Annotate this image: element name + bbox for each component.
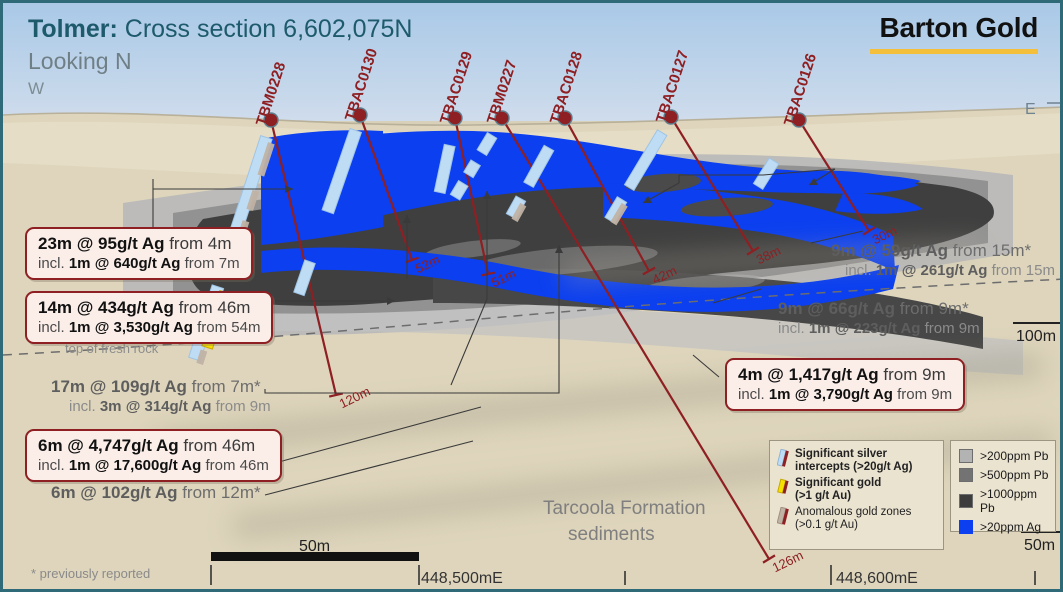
legend-item-anomalous: Anomalous gold zones(>0.1 g/t Au) bbox=[777, 506, 937, 532]
legend-item-silver: Significant silverintercepts (>20g/t Ag) bbox=[777, 448, 937, 474]
callout-c4: 6m @ 4,747g/t Ag from 46m incl. 1m @ 17,… bbox=[25, 429, 282, 482]
legend-ppm: >200ppm Pb >500ppm Pb >1000ppm Pb >20ppm… bbox=[950, 440, 1056, 532]
callout-c1: 23m @ 95g/t Ag from 4m incl. 1m @ 640g/t… bbox=[25, 227, 253, 280]
easting-label-left: 448,500mE bbox=[421, 570, 503, 588]
callout-c1-value: 23m @ 95g/t Ag bbox=[38, 234, 164, 253]
legend-ppm-row: >200ppm Pb bbox=[959, 449, 1055, 463]
anomalous-gold-swatch-icon bbox=[777, 507, 789, 530]
legend-item-gold: Significant gold(>1 g/t Au) bbox=[777, 477, 937, 503]
silver-intercept-swatch-icon bbox=[777, 449, 789, 472]
title-rest: Cross section 6,602,075N bbox=[118, 15, 413, 43]
elevation-label-50m: 50m bbox=[1024, 537, 1055, 555]
formation-label-line2: sediments bbox=[568, 524, 655, 546]
callout-c2: 14m @ 434g/t Ag from 46m incl. 1m @ 3,53… bbox=[25, 291, 273, 344]
ag-20-swatch-icon bbox=[959, 520, 973, 534]
page-title: Tolmer: Cross section 6,602,075N bbox=[28, 15, 412, 44]
easting-label-right: 448,600mE bbox=[836, 570, 918, 588]
brand-logo: Barton Gold bbox=[880, 12, 1038, 44]
pb-1000-swatch-icon bbox=[959, 494, 973, 508]
footnote: * previously reported bbox=[31, 566, 150, 581]
scalebar-label: 50m bbox=[299, 538, 330, 556]
cross-section-figure: Tolmer: Cross section 6,602,075N Looking… bbox=[0, 0, 1063, 592]
elevation-label-100m: 100m bbox=[1016, 328, 1056, 346]
gold-intercept-swatch-icon bbox=[777, 478, 789, 501]
title-bold: Tolmer: bbox=[28, 15, 118, 43]
brand-accent-bar bbox=[870, 49, 1038, 54]
formation-label-line1: Tarcoola Formation bbox=[543, 498, 706, 520]
callout-c7: 9m @ 66g/t Ag from 9m* incl. 1m @ 223g/t… bbox=[778, 299, 980, 337]
east-label: E bbox=[1025, 101, 1036, 119]
callout-c5: 6m @ 102g/t Ag from 12m* bbox=[51, 483, 261, 503]
callout-c6: 9m @ 59g/t Ag from 15m* incl. 1m @ 261g/… bbox=[831, 241, 1055, 279]
callout-c8: 4m @ 1,417g/t Ag from 9m incl. 1m @ 3,79… bbox=[725, 358, 965, 411]
callout-c3: 17m @ 109g/t Ag from 7m* incl. 3m @ 314g… bbox=[51, 377, 271, 415]
legend-ppm-row: >20ppm Ag bbox=[959, 520, 1055, 534]
view-direction-subtitle: Looking N bbox=[28, 48, 132, 75]
pb-500-swatch-icon bbox=[959, 468, 973, 482]
legend-ppm-row: >1000ppm Pb bbox=[959, 487, 1055, 515]
west-label: W bbox=[28, 79, 44, 99]
legend-symbols: Significant silverintercepts (>20g/t Ag)… bbox=[769, 440, 944, 550]
callout-c1-from: from 4m bbox=[164, 234, 231, 253]
pb-200-swatch-icon bbox=[959, 449, 973, 463]
legend-ppm-row: >500ppm Pb bbox=[959, 468, 1055, 482]
